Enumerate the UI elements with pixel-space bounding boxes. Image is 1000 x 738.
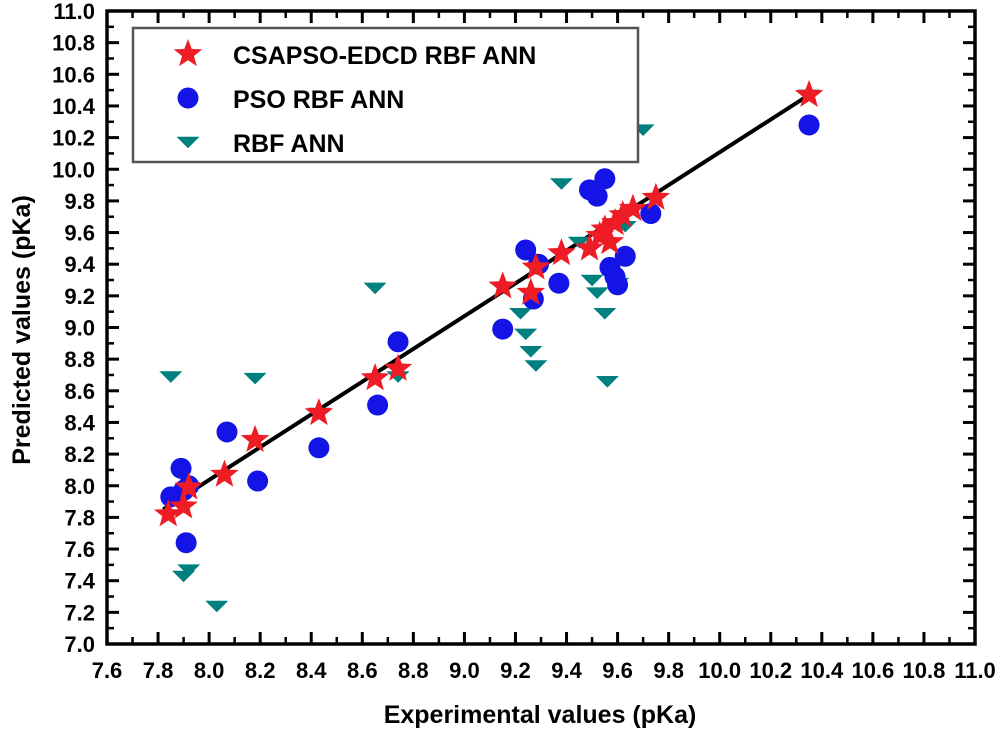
series-triangle-down [159, 90, 820, 613]
y-tick-label: 7.8 [64, 505, 95, 530]
legend-marker-circle [178, 88, 199, 109]
data-point-circle [308, 437, 329, 458]
data-point-circle [607, 274, 628, 295]
x-tick-label: 8.0 [194, 658, 225, 683]
legend-entry-label: CSAPSO-EDCD RBF ANN [233, 42, 536, 70]
data-point-triangle [593, 308, 616, 320]
legend-entry-label: RBF ANN [233, 130, 345, 158]
data-point-circle [388, 331, 409, 352]
x-tick-label: 10.0 [698, 658, 741, 683]
y-tick-label: 10.2 [52, 126, 95, 151]
x-axis-tick-labels: 7.67.88.08.28.48.68.89.09.29.49.69.810.0… [92, 658, 996, 683]
x-tick-label: 11.0 [954, 658, 996, 683]
data-point-triangle [519, 346, 542, 358]
data-point-triangle [514, 329, 537, 341]
y-tick-label: 10.0 [52, 157, 95, 182]
x-tick-label: 9.6 [602, 658, 633, 683]
y-tick-label: 9.0 [64, 316, 95, 341]
x-tick-label: 7.6 [92, 658, 123, 683]
data-point-triangle [550, 178, 573, 190]
data-point-triangle [596, 376, 619, 388]
x-tick-label: 10.6 [851, 658, 894, 683]
x-tick-label: 9.4 [551, 658, 582, 683]
x-tick-label: 10.4 [800, 658, 844, 683]
data-point-triangle [524, 360, 547, 372]
data-point-triangle [586, 287, 609, 299]
data-point-circle [247, 471, 268, 492]
y-tick-label: 11.0 [53, 0, 95, 24]
x-tick-label: 8.8 [398, 658, 429, 683]
y-tick-label: 7.0 [64, 632, 95, 657]
y-tick-label: 8.4 [64, 410, 95, 435]
y-tick-label: 7.2 [64, 600, 95, 625]
data-point-star [241, 425, 270, 452]
x-tick-label: 8.6 [347, 658, 378, 683]
data-point-circle [594, 168, 615, 189]
y-tick-label: 10.6 [52, 62, 95, 87]
y-tick-label: 7.4 [64, 569, 95, 594]
data-point-circle [216, 421, 237, 442]
data-point-triangle [581, 275, 604, 287]
y-axis-title: Predicted values (pKa) [8, 195, 36, 465]
data-point-circle [799, 114, 820, 135]
x-tick-label: 10.2 [749, 658, 792, 683]
y-tick-label: 8.2 [64, 442, 95, 467]
y-tick-label: 8.6 [64, 379, 95, 404]
y-tick-label: 9.6 [64, 221, 95, 246]
data-point-star [488, 271, 517, 298]
y-tick-label: 9.2 [64, 284, 95, 309]
y-tick-label: 10.8 [52, 31, 95, 56]
y-tick-label: 9.4 [64, 252, 95, 277]
x-tick-label: 8.4 [296, 658, 327, 683]
x-tick-label: 9.2 [500, 658, 531, 683]
x-tick-label: 7.8 [143, 658, 174, 683]
x-tick-label: 8.2 [245, 658, 276, 683]
y-tick-label: 7.6 [64, 537, 95, 562]
data-point-triangle [159, 371, 182, 383]
y-tick-label: 8.0 [64, 474, 95, 499]
data-point-circle [367, 395, 388, 416]
data-point-triangle [364, 283, 387, 295]
y-axis-tick-labels: 7.07.27.47.67.88.08.28.48.68.89.09.29.49… [52, 0, 96, 657]
x-axis-title: Experimental values (pKa) [384, 701, 697, 729]
scatter-plot-figure: 7.67.88.08.28.48.68.89.09.29.49.69.810.0… [0, 0, 1000, 738]
data-point-triangle [205, 601, 228, 613]
data-point-triangle [509, 308, 532, 320]
y-tick-label: 8.8 [64, 347, 95, 372]
x-tick-label: 10.8 [903, 658, 946, 683]
x-tick-label: 9.0 [449, 658, 480, 683]
data-point-circle [176, 532, 197, 553]
data-point-circle [615, 246, 636, 267]
data-point-circle [492, 319, 513, 340]
series-circle [160, 114, 819, 553]
y-tick-label: 10.4 [52, 94, 96, 119]
legend-box: CSAPSO-EDCD RBF ANNPSO RBF ANNRBF ANN [133, 28, 638, 162]
data-point-circle [548, 273, 569, 294]
y-tick-label: 9.8 [64, 189, 95, 214]
x-tick-label: 9.8 [653, 658, 684, 683]
legend-entry-label: PSO RBF ANN [233, 86, 404, 114]
plot-canvas: 7.67.88.08.28.48.68.89.09.29.49.69.810.0… [0, 0, 1000, 738]
data-point-triangle [244, 373, 267, 385]
